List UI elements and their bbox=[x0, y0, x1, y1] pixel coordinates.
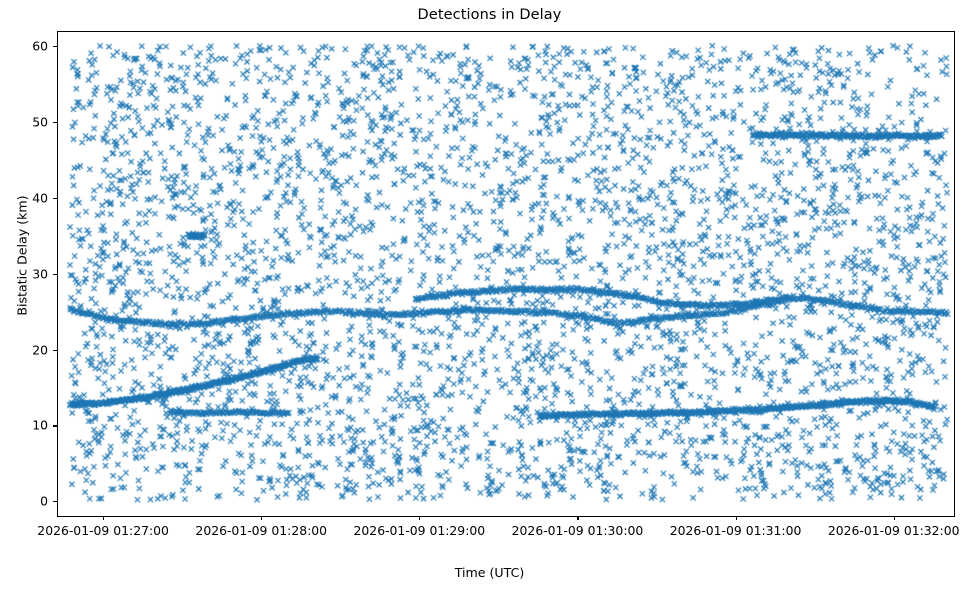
x-tick-mark bbox=[103, 516, 104, 520]
y-tick-mark bbox=[53, 425, 57, 426]
y-tick-label: 60 bbox=[32, 39, 48, 54]
x-tick-label: 2026-01-09 01:27:00 bbox=[37, 523, 169, 538]
y-tick-label: 40 bbox=[32, 190, 48, 205]
y-tick-mark bbox=[53, 46, 57, 47]
plot-axes-area bbox=[57, 31, 955, 517]
y-tick-label: 0 bbox=[40, 494, 48, 509]
x-tick-mark bbox=[419, 516, 420, 520]
x-tick-mark bbox=[577, 516, 578, 520]
x-axis-label: Time (UTC) bbox=[0, 565, 979, 580]
y-tick-label: 50 bbox=[32, 115, 48, 130]
y-tick-mark bbox=[53, 122, 57, 123]
scatter-plot-canvas bbox=[58, 32, 954, 516]
x-tick-label: 2026-01-09 01:31:00 bbox=[670, 523, 802, 538]
chart-title: Detections in Delay bbox=[0, 7, 979, 23]
x-tick-label: 2026-01-09 01:28:00 bbox=[195, 523, 327, 538]
x-tick-mark bbox=[894, 516, 895, 520]
y-tick-mark bbox=[53, 350, 57, 351]
y-axis-label: Bistatic Delay (km) bbox=[15, 126, 30, 386]
x-tick-mark bbox=[736, 516, 737, 520]
x-tick-label: 2026-01-09 01:29:00 bbox=[354, 523, 486, 538]
y-tick-mark bbox=[53, 274, 57, 275]
y-tick-label: 30 bbox=[32, 266, 48, 281]
matplotlib-figure: Detections in Delay 2026-01-09 01:27:002… bbox=[0, 0, 979, 590]
x-tick-mark bbox=[261, 516, 262, 520]
y-tick-mark bbox=[53, 198, 57, 199]
y-tick-label: 20 bbox=[32, 342, 48, 357]
y-tick-mark bbox=[53, 501, 57, 502]
y-tick-label: 10 bbox=[32, 418, 48, 433]
x-tick-label: 2026-01-09 01:32:00 bbox=[828, 523, 960, 538]
x-tick-label: 2026-01-09 01:30:00 bbox=[512, 523, 644, 538]
